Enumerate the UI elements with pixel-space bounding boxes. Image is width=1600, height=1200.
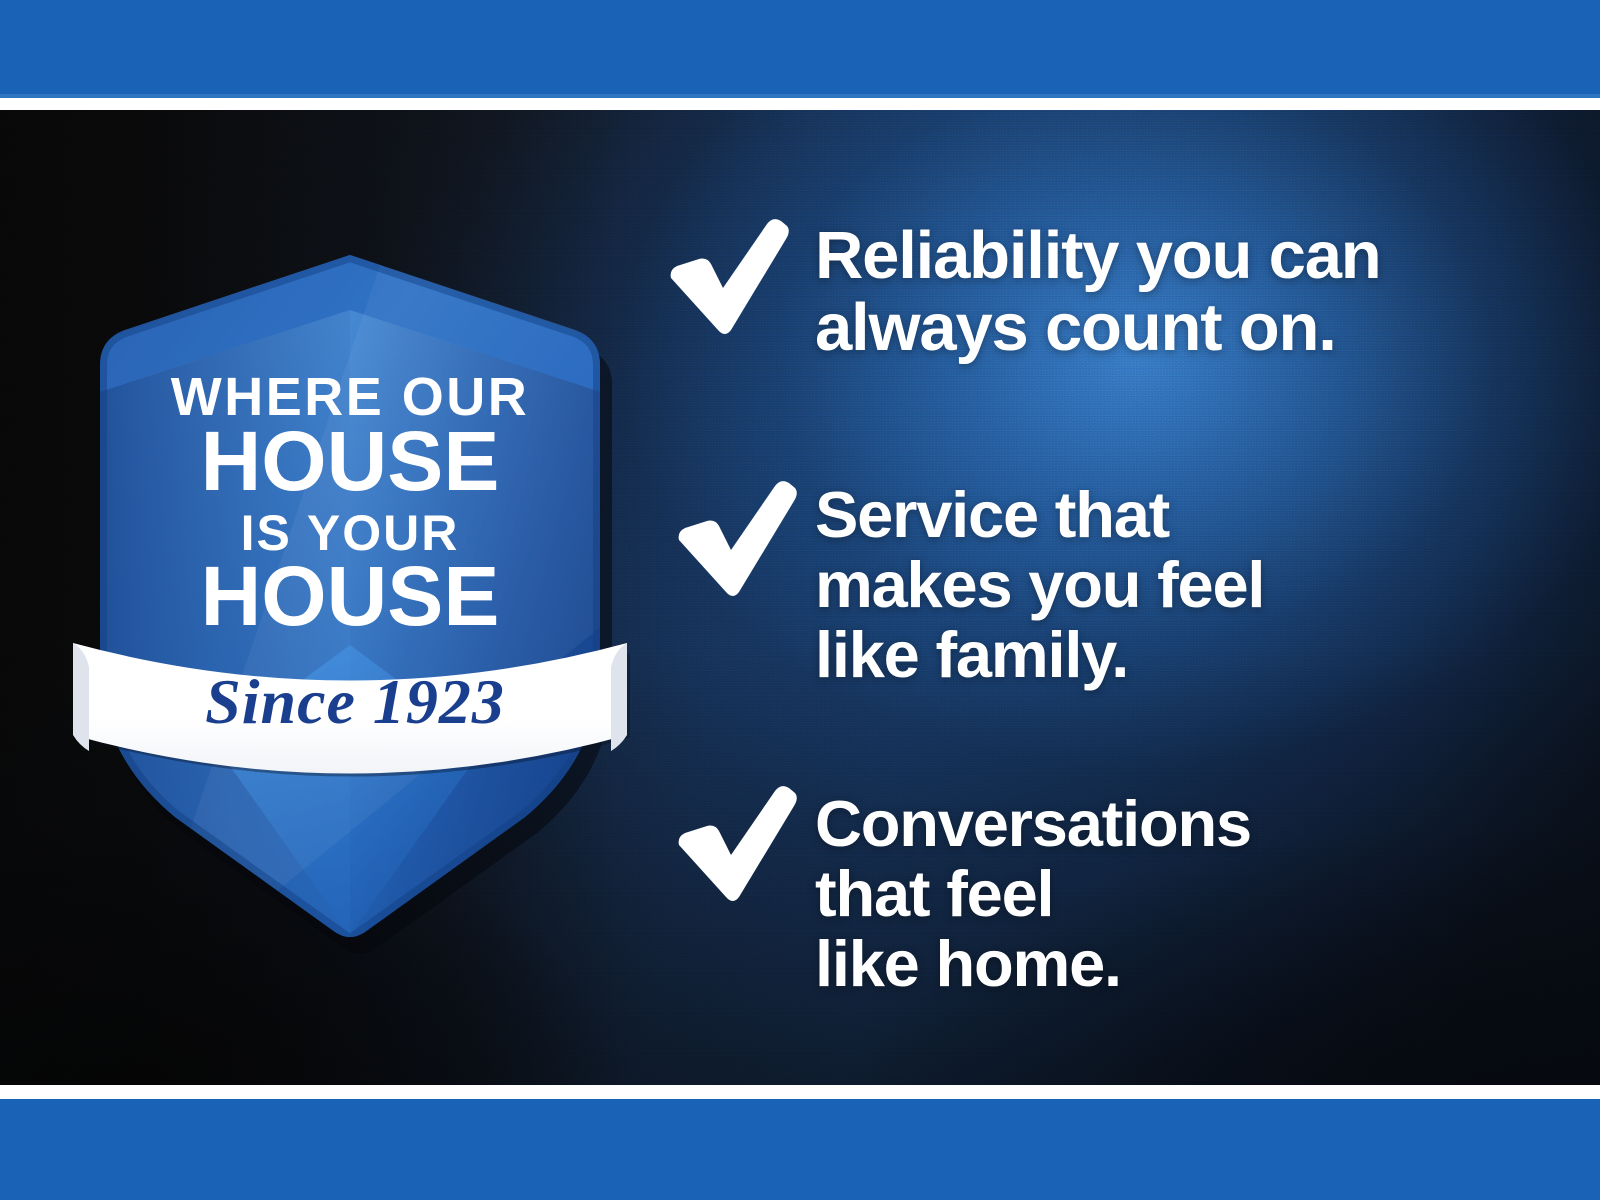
top-bar-seam (0, 94, 1600, 98)
benefit-item-service: Service that makes you feel like family. (665, 480, 1264, 691)
benefits-list: Reliability you can always count on. Ser… (665, 110, 1565, 1085)
benefit-item-reliability: Reliability you can always count on. (665, 218, 1380, 365)
checkmark-icon (665, 218, 815, 338)
emblem-line-2: HOUSE (201, 414, 500, 508)
benefit-text: Conversations that feel like home. (815, 789, 1251, 1000)
emblem-text-block: WHERE OUR HOUSE IS YOUR HOUSE (171, 367, 530, 643)
benefit-text: Reliability you can always count on. (815, 220, 1380, 365)
benefit-item-conversations: Conversations that feel like home. (665, 785, 1251, 1000)
promotional-banner: WHERE OUR HOUSE IS YOUR HOUSE Since 1923 (0, 0, 1600, 1200)
checkmark-icon (665, 480, 815, 600)
ribbon-text: Since 1923 (205, 666, 505, 737)
brand-emblem: WHERE OUR HOUSE IS YOUR HOUSE Since 1923 (55, 145, 645, 955)
emblem-line-4: HOUSE (201, 549, 500, 643)
top-brand-bar (0, 0, 1600, 98)
benefit-text: Service that makes you feel like family. (815, 480, 1264, 691)
checkmark-icon (665, 785, 815, 905)
bottom-brand-bar (0, 1099, 1600, 1200)
